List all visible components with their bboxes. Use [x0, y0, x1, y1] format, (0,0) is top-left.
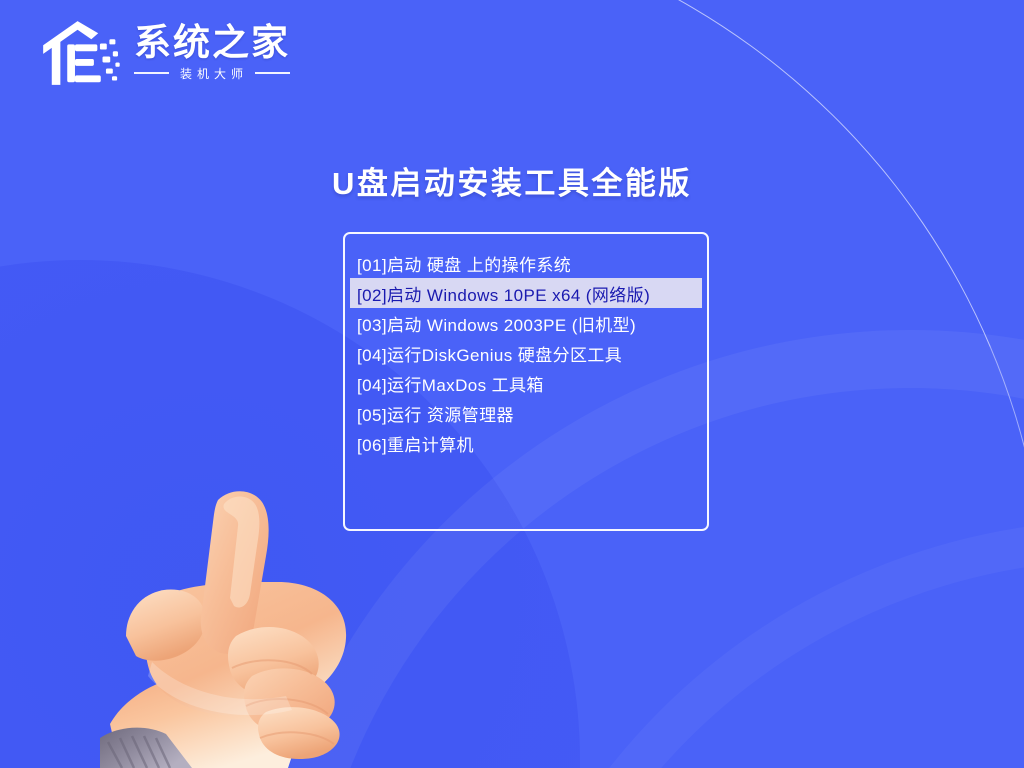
- boot-menu-item-06[interactable]: [06]重启计算机: [350, 428, 702, 458]
- boot-menu-item-01[interactable]: [01]启动 硬盘 上的操作系统: [350, 248, 702, 278]
- boot-menu-screen: 系统之家 装机大师 U盘启动安装工具全能版 [01]启动 硬盘 上的操作系统 […: [0, 0, 1024, 768]
- brand-logo: 系统之家 装机大师: [38, 16, 290, 90]
- tagline-dash-left: [134, 72, 169, 74]
- house-pixel-logo-icon: [38, 16, 124, 90]
- page-title: U盘启动安装工具全能版: [0, 158, 1024, 203]
- boot-menu-item-04-maxdos[interactable]: [04]运行MaxDos 工具箱: [350, 368, 702, 398]
- brand-tagline: 装机大师: [176, 65, 248, 82]
- boot-menu-item-03[interactable]: [03]启动 Windows 2003PE (旧机型): [350, 308, 702, 338]
- boot-menu-item-02[interactable]: [02]启动 Windows 10PE x64 (网络版): [350, 278, 702, 308]
- boot-menu-item-05[interactable]: [05]运行 资源管理器: [350, 398, 702, 428]
- boot-menu-item-04-diskgenius[interactable]: [04]运行DiskGenius 硬盘分区工具: [350, 338, 702, 368]
- tagline-dash-right: [255, 72, 290, 74]
- pointing-hand-illustration: [100, 486, 400, 768]
- brand-tagline-row: 装机大师: [134, 65, 290, 82]
- background-curve-band-secondary: [470, 520, 1024, 768]
- brand-name: 系统之家: [134, 24, 290, 63]
- brand-wordmark: 系统之家 装机大师: [134, 24, 290, 82]
